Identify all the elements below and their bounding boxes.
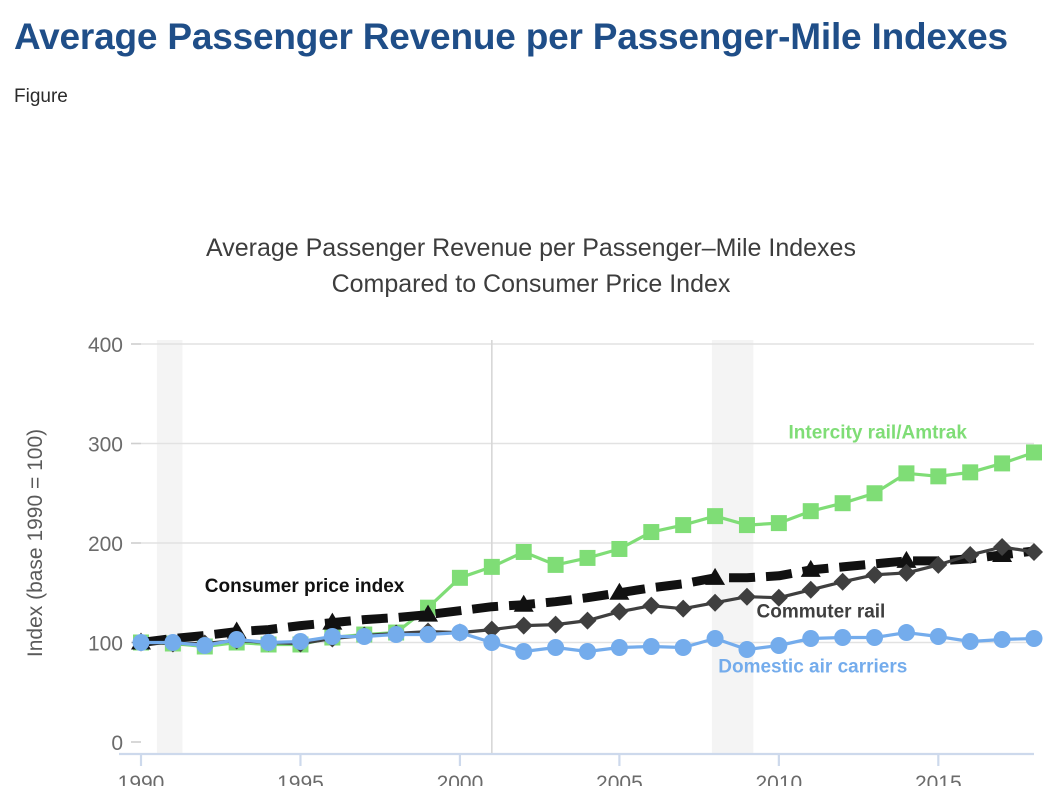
data-point — [1026, 444, 1042, 460]
x-tick-label-2005: 2005 — [596, 772, 643, 786]
data-point — [547, 616, 565, 634]
x-tick-label-2015: 2015 — [915, 772, 962, 786]
data-point — [707, 508, 723, 524]
y-tick-label-100: 100 — [88, 633, 123, 656]
data-point — [674, 600, 692, 618]
x-tick-label-1995: 1995 — [277, 772, 324, 786]
series-label-commuter-rail: Commuter rail — [757, 602, 886, 623]
data-point — [866, 629, 883, 646]
data-point — [610, 603, 628, 621]
x-tick-label-2010: 2010 — [755, 772, 802, 786]
data-point — [579, 612, 597, 630]
data-point — [834, 573, 852, 591]
data-point — [802, 581, 820, 599]
data-point — [324, 628, 341, 645]
data-point — [643, 524, 659, 540]
data-point — [1026, 630, 1043, 647]
data-point — [930, 628, 947, 645]
data-point — [675, 517, 691, 533]
data-series — [131, 444, 1043, 659]
data-point — [452, 570, 468, 586]
y-tick-label-0: 0 — [111, 732, 123, 755]
y-axis-ticks: 0100200300400 — [88, 334, 141, 755]
data-point — [164, 634, 181, 651]
data-point — [579, 643, 596, 660]
x-tick-label-1990: 1990 — [118, 772, 165, 786]
data-point — [580, 550, 596, 566]
data-point — [548, 557, 564, 573]
data-point — [962, 633, 979, 650]
data-point — [770, 637, 787, 654]
data-point — [388, 626, 405, 643]
data-point — [867, 485, 883, 501]
x-tick-label-2000: 2000 — [437, 772, 484, 786]
figure-label: Figure — [14, 86, 1047, 108]
data-point — [1025, 543, 1043, 561]
x-axis: 199019952000200520102015 — [118, 754, 1034, 786]
data-point — [356, 628, 373, 645]
data-point — [196, 637, 213, 654]
data-point — [866, 566, 884, 584]
data-point — [898, 624, 915, 641]
recession-1990 — [157, 340, 183, 754]
series-label-intercity-rail-amtrak: Intercity rail/Amtrak — [788, 423, 967, 444]
y-tick-label-200: 200 — [88, 533, 123, 556]
chart-figure: Average Passenger Revenue per Passenger–… — [0, 210, 1047, 786]
data-point — [483, 634, 500, 651]
data-point — [611, 541, 627, 557]
series-label-domestic-air-carriers: Domestic air carriers — [718, 656, 907, 677]
series-label-consumer-price-index: Consumer price index — [205, 576, 405, 597]
data-point — [994, 455, 1010, 471]
data-point — [451, 624, 468, 641]
chart-title: Average Passenger Revenue per Passenger–… — [206, 234, 856, 262]
data-point — [133, 634, 150, 651]
data-point — [484, 559, 500, 575]
data-point — [642, 597, 660, 615]
data-point — [515, 643, 532, 660]
data-point — [611, 639, 628, 656]
data-point — [260, 634, 277, 651]
y-tick-label-300: 300 — [88, 434, 123, 457]
data-point — [675, 639, 692, 656]
chart-subtitle: Compared to Consumer Price Index — [332, 270, 731, 298]
data-point — [834, 629, 851, 646]
recession-bands — [157, 340, 753, 754]
data-point — [515, 617, 533, 635]
data-point — [420, 626, 437, 643]
data-point — [739, 517, 755, 533]
data-point — [803, 503, 819, 519]
data-point — [802, 630, 819, 647]
data-point — [516, 544, 532, 560]
y-tick-label-400: 400 — [88, 334, 123, 357]
recession-2008 — [712, 340, 753, 754]
page-title: Average Passenger Revenue per Passenger-… — [14, 14, 1024, 59]
data-point — [707, 630, 724, 647]
revenue-index-chart: Average Passenger Revenue per Passenger–… — [0, 210, 1047, 786]
data-point — [898, 465, 914, 481]
data-point — [292, 633, 309, 650]
data-point — [994, 631, 1011, 648]
data-point — [547, 639, 564, 656]
data-point — [228, 631, 245, 648]
data-point — [930, 468, 946, 484]
data-point — [962, 464, 978, 480]
data-point — [835, 495, 851, 511]
data-point — [771, 515, 787, 531]
data-point — [643, 638, 660, 655]
y-axis-title: Index (base 1990 = 100) — [24, 429, 47, 657]
